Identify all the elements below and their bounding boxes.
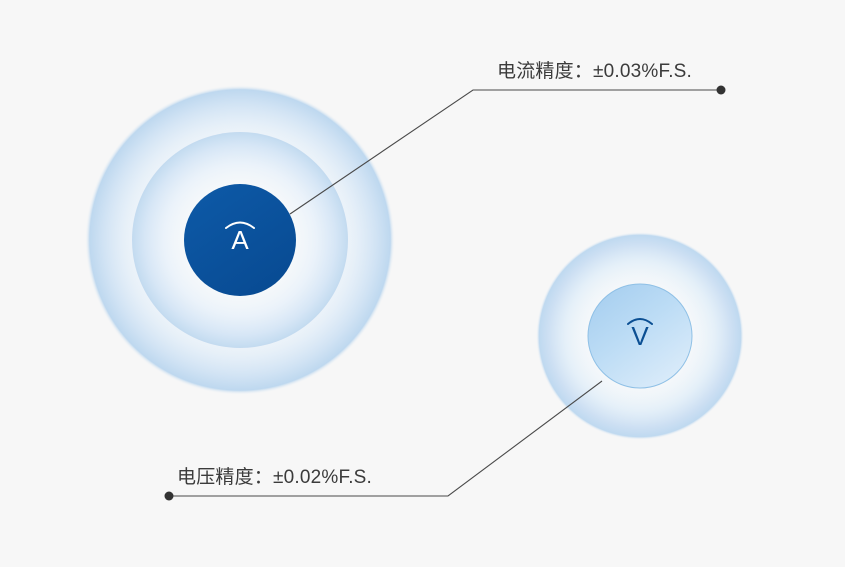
voltmeter-symbol-label: V xyxy=(610,321,670,352)
callout-dot-voltage xyxy=(165,492,174,501)
ammeter-symbol-label: A xyxy=(210,225,270,256)
diagram-svg xyxy=(0,0,845,567)
diagram-canvas: A V 电流精度：±0.03%F.S. 电压精度：±0.02%F.S. xyxy=(0,0,845,567)
callout-label-voltage-accuracy: 电压精度：±0.02%F.S. xyxy=(177,462,372,489)
callout-label-current-accuracy: 电流精度：±0.03%F.S. xyxy=(497,56,692,83)
callout-dot-current xyxy=(717,86,726,95)
